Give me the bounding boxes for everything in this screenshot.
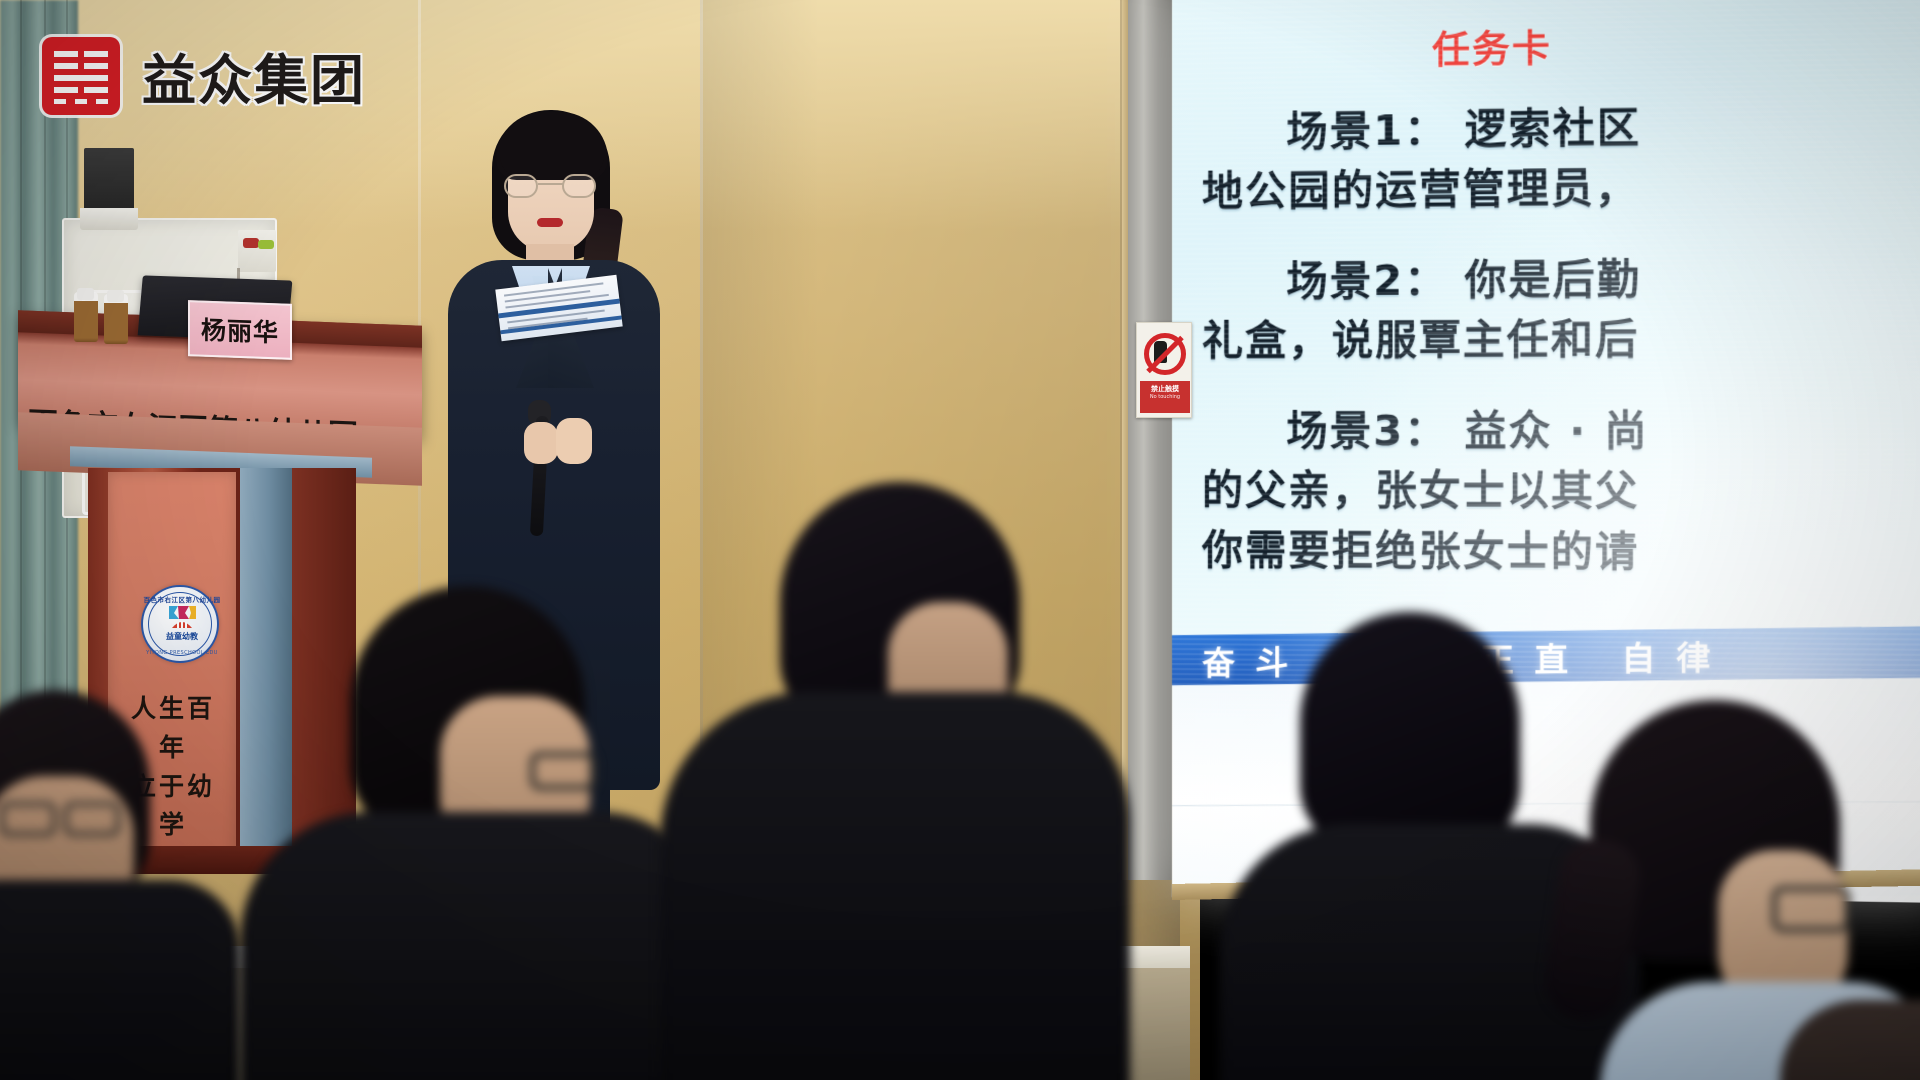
- audience-3-body: [660, 692, 1130, 1080]
- slide-line-3a: 场景3： 益众 · 尚: [1286, 400, 1920, 462]
- audience-2-body: [240, 812, 710, 1080]
- emblem-arc-text: 百色市右江区第八幼儿园: [143, 594, 221, 604]
- presenter-hand-right: [556, 418, 592, 464]
- emblem-mark-icon: [167, 606, 197, 630]
- sign-label-en: No touching: [1140, 394, 1190, 400]
- wall-device-base: [80, 208, 138, 230]
- slide-paragraph-1: 场景1： 逻索社区 地公园的运营管理员，: [1202, 92, 1920, 223]
- sign-label: 禁止触摸 No touching: [1140, 381, 1190, 413]
- socket-cable-red: [243, 238, 259, 248]
- audience-1-lens-right: [64, 802, 120, 836]
- brand-logo-text: 益众集团: [142, 36, 366, 115]
- audience-member-5: [1530, 700, 1920, 1080]
- presenter-glasses-icon: [504, 174, 598, 198]
- slide-line-2b: 礼盒，说服覃主任和后: [1202, 308, 1920, 372]
- no-touching-sign: 禁止触摸 No touching: [1136, 322, 1192, 418]
- emblem-center-text: 益童幼教: [143, 631, 221, 642]
- slide-paragraph-2: 场景2： 你是后勤 礼盒，说服覃主任和后: [1202, 246, 1920, 372]
- slide-line-1a: 场景1： 逻索社区: [1286, 92, 1920, 162]
- audience-5-glasses-icon: [1772, 886, 1850, 932]
- brand-logo: 益众集团: [42, 36, 366, 115]
- audience-5-ponytail: [1540, 835, 1644, 1024]
- slide-title: 任务卡: [1432, 9, 1920, 74]
- presenter-glasses-bridge: [538, 183, 564, 185]
- socket-cable-green: [258, 240, 274, 249]
- audience-member-3: [660, 482, 1100, 1080]
- wall-socket: [238, 230, 276, 272]
- water-bottle-cap-1: [77, 288, 94, 300]
- audience-member-1: [0, 690, 230, 1080]
- presenter-lens-left: [504, 174, 538, 198]
- audience-2-lens: [530, 752, 596, 790]
- brand-logo-mark-icon: [42, 37, 120, 115]
- slide-line-2a: 场景2： 你是后勤: [1286, 246, 1920, 312]
- slide-line-3b: 的父亲，张女士以其父: [1202, 461, 1920, 523]
- wall-mounted-device: [84, 148, 134, 212]
- room-pillar: [1128, 0, 1172, 880]
- presenter-lens-right: [562, 174, 596, 198]
- audience-4-head: [1300, 612, 1520, 852]
- nameplate-text: 杨丽华: [201, 311, 279, 350]
- audience-1-body: [0, 880, 240, 1080]
- photo-stage: 任务卡 场景1： 逻索社区 地公园的运营管理员， 场景2： 你是后勤 礼盒，说服…: [0, 0, 1920, 1080]
- slide-content: 任务卡 场景1： 逻索社区 地公园的运营管理员， 场景2： 你是后勤 礼盒，说服…: [1202, 9, 1920, 616]
- emblem-english-text: YITONG PRESCHOOL EDU: [143, 650, 221, 656]
- audience-member-2: [230, 586, 700, 1080]
- slide-line-1b: 地公园的运营管理员，: [1202, 153, 1920, 222]
- speaker-nameplate: 杨丽华: [188, 300, 292, 360]
- presenter-lips: [537, 218, 563, 227]
- school-emblem: 百色市右江区第八幼儿园 益童幼教 YITONG PRESCHOOL EDU: [141, 585, 219, 663]
- presenter-hand-left: [524, 422, 558, 464]
- audience-1-lens-left: [0, 802, 56, 836]
- water-bottle-cap-2: [107, 290, 124, 302]
- sign-label-cn: 禁止触摸: [1140, 385, 1190, 394]
- slide-line-3c: 你需要拒绝张女士的请: [1202, 521, 1920, 585]
- slide-paragraph-3: 场景3： 益众 · 尚 的父亲，张女士以其父 你需要拒绝张女士的请: [1202, 400, 1920, 585]
